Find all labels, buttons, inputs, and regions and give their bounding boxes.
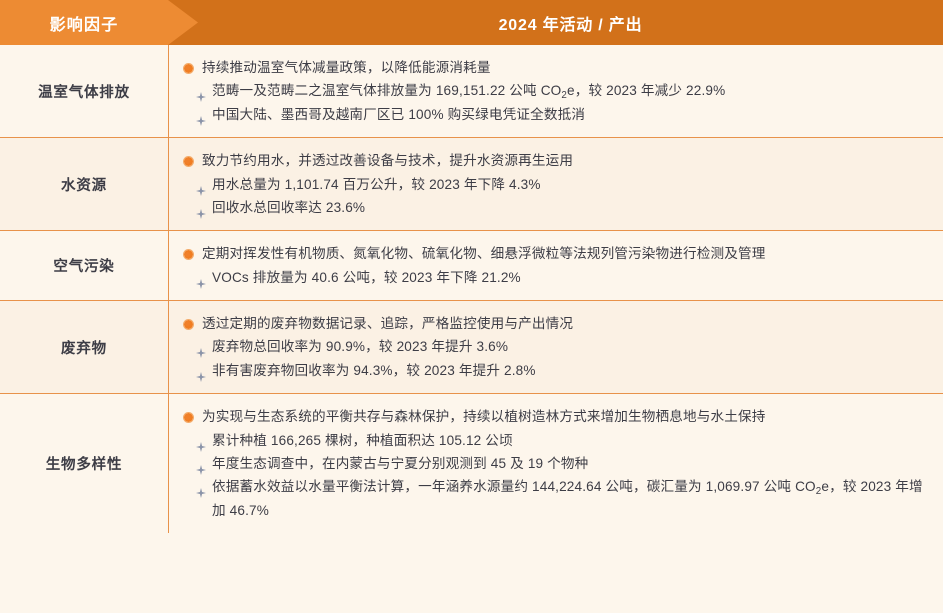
factor-cell: 废弃物 [0,301,169,393]
star-bullet-icon [196,110,206,120]
main-bullet-text: 透过定期的废弃物数据记录、追踪，严格监控使用与产出情况 [202,312,573,335]
list-item: 依据蓄水效益以水量平衡法计算，一年涵养水源量约 144,224.64 公吨，碳汇… [183,475,935,522]
subscript-two: 2 [816,486,822,497]
list-item: 累计种植 166,265 棵树，种植面积达 105.12 公顷 [183,429,935,452]
list-item: 废弃物总回收率为 90.9%，较 2023 年提升 3.6% [183,335,935,358]
header-factor-label: 影响因子 [0,0,168,45]
sub-bullet-text: 中国大陆、墨西哥及越南厂区已 100% 购买绿电凭证全数抵消 [212,103,935,126]
activity-cell: 为实现与生态系统的平衡共存与森林保护，持续以植树造林方式来增加生物栖息地与水土保… [169,394,943,533]
sub-bullet-text: 用水总量为 1,101.74 百万公升，较 2023 年下降 4.3% [212,173,935,196]
esg-performance-table: 影响因子 2024 年活动 / 产出 温室气体排放持续推动温室气体减量政策，以降… [0,0,943,613]
sub-bullet-text: VOCs 排放量为 40.6 公吨，较 2023 年下降 21.2% [212,266,935,289]
sub-bullet-list: 用水总量为 1,101.74 百万公升，较 2023 年下降 4.3%回收水总回… [183,173,935,220]
sub-bullet-text: 范畴一及范畴二之温室气体排放量为 169,151.22 公吨 CO2e，较 20… [212,79,935,102]
header-activity-label: 2024 年活动 / 产出 [198,0,943,45]
ring-bullet-icon [183,412,194,423]
star-bullet-icon [196,342,206,352]
star-bullet-icon [196,459,206,469]
star-bullet-icon [196,86,206,96]
ring-bullet-icon [183,156,194,167]
sub-bullet-text: 非有害废弃物回收率为 94.3%，较 2023 年提升 2.8% [212,359,935,382]
main-bullet-item: 致力节约用水，并透过改善设备与技术，提升水资源再生运用 [183,149,935,172]
star-bullet-icon [196,366,206,376]
sub-bullet-list: 累计种植 166,265 棵树，种植面积达 105.12 公顷年度生态调查中，在… [183,429,935,523]
factor-cell: 温室气体排放 [0,45,169,137]
ring-bullet-icon [183,319,194,330]
activity-cell: 致力节约用水，并透过改善设备与技术，提升水资源再生运用用水总量为 1,101.7… [169,138,943,230]
sub-bullet-text: 依据蓄水效益以水量平衡法计算，一年涵养水源量约 144,224.64 公吨，碳汇… [212,475,935,522]
star-bullet-icon [196,436,206,446]
star-bullet-icon [196,180,206,190]
main-bullet-item: 定期对挥发性有机物质、氮氧化物、硫氧化物、细悬浮微粒等法规列管污染物进行检测及管… [183,242,935,265]
main-bullet-item: 为实现与生态系统的平衡共存与森林保护，持续以植树造林方式来增加生物栖息地与水土保… [183,405,935,428]
list-item: VOCs 排放量为 40.6 公吨，较 2023 年下降 21.2% [183,266,935,289]
table-row: 水资源致力节约用水，并透过改善设备与技术，提升水资源再生运用用水总量为 1,10… [0,138,943,231]
main-bullet-item: 持续推动温室气体减量政策，以降低能源消耗量 [183,56,935,79]
activity-cell: 透过定期的废弃物数据记录、追踪，严格监控使用与产出情况废弃物总回收率为 90.9… [169,301,943,393]
list-item: 范畴一及范畴二之温室气体排放量为 169,151.22 公吨 CO2e，较 20… [183,79,935,102]
table-row: 生物多样性为实现与生态系统的平衡共存与森林保护，持续以植树造林方式来增加生物栖息… [0,394,943,533]
sub-bullet-list: 范畴一及范畴二之温室气体排放量为 169,151.22 公吨 CO2e，较 20… [183,79,935,126]
main-bullet-item: 透过定期的废弃物数据记录、追踪，严格监控使用与产出情况 [183,312,935,335]
ring-bullet-icon [183,249,194,260]
sub-bullet-text: 年度生态调查中，在内蒙古与宁夏分别观测到 45 及 19 个物种 [212,452,935,475]
star-bullet-icon [196,482,206,492]
main-bullet-text: 持续推动温室气体减量政策，以降低能源消耗量 [202,56,491,79]
list-item: 回收水总回收率达 23.6% [183,196,935,219]
list-item: 非有害废弃物回收率为 94.3%，较 2023 年提升 2.8% [183,359,935,382]
factor-cell: 水资源 [0,138,169,230]
ring-bullet-icon [183,63,194,74]
table-row: 温室气体排放持续推动温室气体减量政策，以降低能源消耗量范畴一及范畴二之温室气体排… [0,45,943,138]
list-item: 中国大陆、墨西哥及越南厂区已 100% 购买绿电凭证全数抵消 [183,103,935,126]
list-item: 年度生态调查中，在内蒙古与宁夏分别观测到 45 及 19 个物种 [183,452,935,475]
main-bullet-text: 为实现与生态系统的平衡共存与森林保护，持续以植树造林方式来增加生物栖息地与水土保… [202,405,766,428]
main-bullet-text: 定期对挥发性有机物质、氮氧化物、硫氧化物、细悬浮微粒等法规列管污染物进行检测及管… [202,242,766,265]
activity-cell: 持续推动温室气体减量政策，以降低能源消耗量范畴一及范畴二之温室气体排放量为 16… [169,45,943,137]
star-bullet-icon [196,203,206,213]
subscript-two: 2 [561,90,567,101]
table-row: 废弃物透过定期的废弃物数据记录、追踪，严格监控使用与产出情况废弃物总回收率为 9… [0,301,943,394]
table-body: 温室气体排放持续推动温室气体减量政策，以降低能源消耗量范畴一及范畴二之温室气体排… [0,45,943,533]
activity-cell: 定期对挥发性有机物质、氮氧化物、硫氧化物、细悬浮微粒等法规列管污染物进行检测及管… [169,231,943,300]
sub-bullet-text: 回收水总回收率达 23.6% [212,196,935,219]
sub-bullet-text: 废弃物总回收率为 90.9%，较 2023 年提升 3.6% [212,335,935,358]
sub-bullet-list: VOCs 排放量为 40.6 公吨，较 2023 年下降 21.2% [183,266,935,289]
factor-cell: 生物多样性 [0,394,169,533]
list-item: 用水总量为 1,101.74 百万公升，较 2023 年下降 4.3% [183,173,935,196]
sub-bullet-text: 累计种植 166,265 棵树，种植面积达 105.12 公顷 [212,429,935,452]
table-header: 影响因子 2024 年活动 / 产出 [0,0,943,45]
star-bullet-icon [196,273,206,283]
sub-bullet-list: 废弃物总回收率为 90.9%，较 2023 年提升 3.6%非有害废弃物回收率为… [183,335,935,382]
table-row: 空气污染定期对挥发性有机物质、氮氧化物、硫氧化物、细悬浮微粒等法规列管污染物进行… [0,231,943,301]
factor-cell: 空气污染 [0,231,169,300]
main-bullet-text: 致力节约用水，并透过改善设备与技术，提升水资源再生运用 [202,149,573,172]
